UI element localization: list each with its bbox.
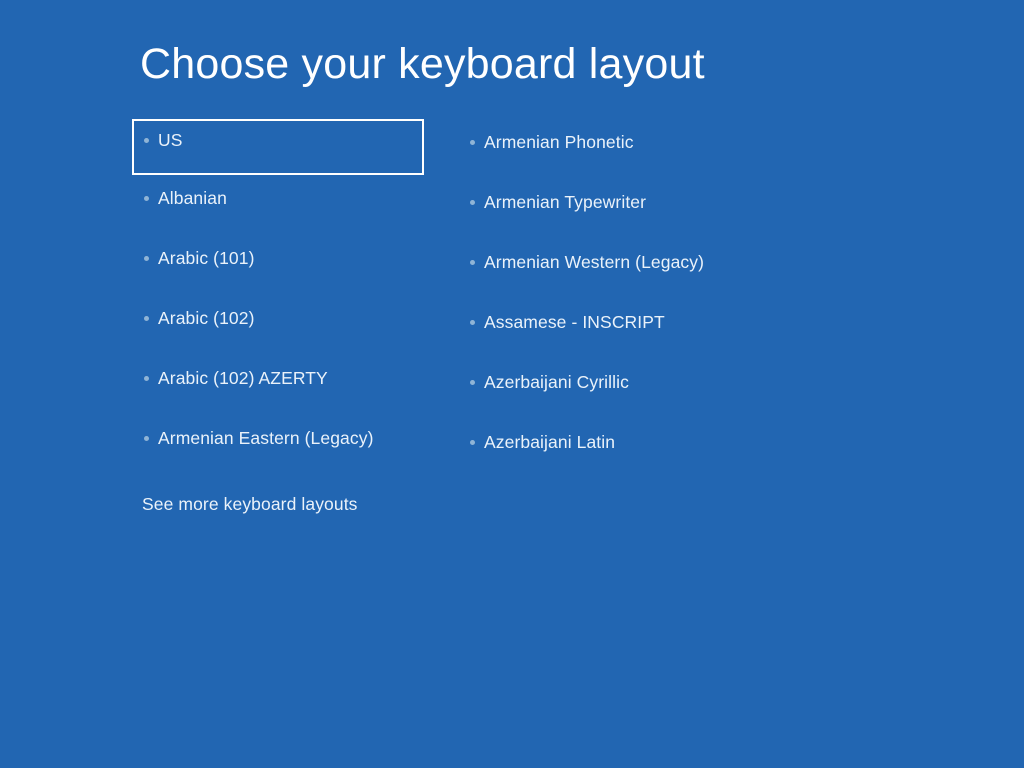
layout-option-armenian-phonetic[interactable]: Armenian Phonetic xyxy=(458,119,778,179)
layout-option-arabic-101[interactable]: Arabic (101) xyxy=(132,235,424,295)
see-more-keyboard-layouts-link[interactable]: See more keyboard layouts xyxy=(142,492,358,516)
bullet-icon xyxy=(144,436,149,441)
bullet-icon xyxy=(470,140,475,145)
layout-option-label: Armenian Western (Legacy) xyxy=(484,251,704,273)
layout-option-assamese-inscript[interactable]: Assamese - INSCRIPT xyxy=(458,299,778,359)
layout-option-label: Arabic (101) xyxy=(158,247,255,269)
layout-option-armenian-typewriter[interactable]: Armenian Typewriter xyxy=(458,179,778,239)
layout-option-label: Armenian Eastern (Legacy) xyxy=(158,427,374,449)
layout-option-azerbaijani-cyrillic[interactable]: Azerbaijani Cyrillic xyxy=(458,359,778,419)
layout-option-armenian-western-legacy[interactable]: Armenian Western (Legacy) xyxy=(458,239,778,299)
bullet-icon xyxy=(470,440,475,445)
layout-option-label: Albanian xyxy=(158,187,227,209)
bullet-icon xyxy=(470,200,475,205)
layout-option-label: Assamese - INSCRIPT xyxy=(484,311,665,333)
layout-option-us[interactable]: US xyxy=(132,119,424,175)
layout-option-armenian-eastern-legacy[interactable]: Armenian Eastern (Legacy) xyxy=(132,415,424,475)
layout-option-label: Armenian Typewriter xyxy=(484,191,646,213)
bullet-icon xyxy=(144,376,149,381)
bullet-icon xyxy=(144,196,149,201)
keyboard-layout-screen: Choose your keyboard layout US Albanian … xyxy=(0,0,1024,768)
layout-option-azerbaijani-latin[interactable]: Azerbaijani Latin xyxy=(458,419,778,479)
layout-option-arabic-102[interactable]: Arabic (102) xyxy=(132,295,424,355)
layout-option-label: Arabic (102) AZERTY xyxy=(158,367,328,389)
bullet-icon xyxy=(144,316,149,321)
bullet-icon xyxy=(470,380,475,385)
layout-option-albanian[interactable]: Albanian xyxy=(132,175,424,235)
layout-option-label: Azerbaijani Latin xyxy=(484,431,615,453)
layout-list-right-column: Armenian Phonetic Armenian Typewriter Ar… xyxy=(458,119,778,479)
bullet-icon xyxy=(470,260,475,265)
layout-option-label: Arabic (102) xyxy=(158,307,255,329)
layout-option-arabic-102-azerty[interactable]: Arabic (102) AZERTY xyxy=(132,355,424,415)
layout-option-label: US xyxy=(158,129,183,151)
layout-option-label: Armenian Phonetic xyxy=(484,131,634,153)
layout-list-left-column: US Albanian Arabic (101) Arabic (102) Ar… xyxy=(132,119,424,475)
bullet-icon xyxy=(144,256,149,261)
page-title: Choose your keyboard layout xyxy=(140,36,705,92)
layout-option-label: Azerbaijani Cyrillic xyxy=(484,371,629,393)
bullet-icon xyxy=(470,320,475,325)
bullet-icon xyxy=(144,138,149,143)
